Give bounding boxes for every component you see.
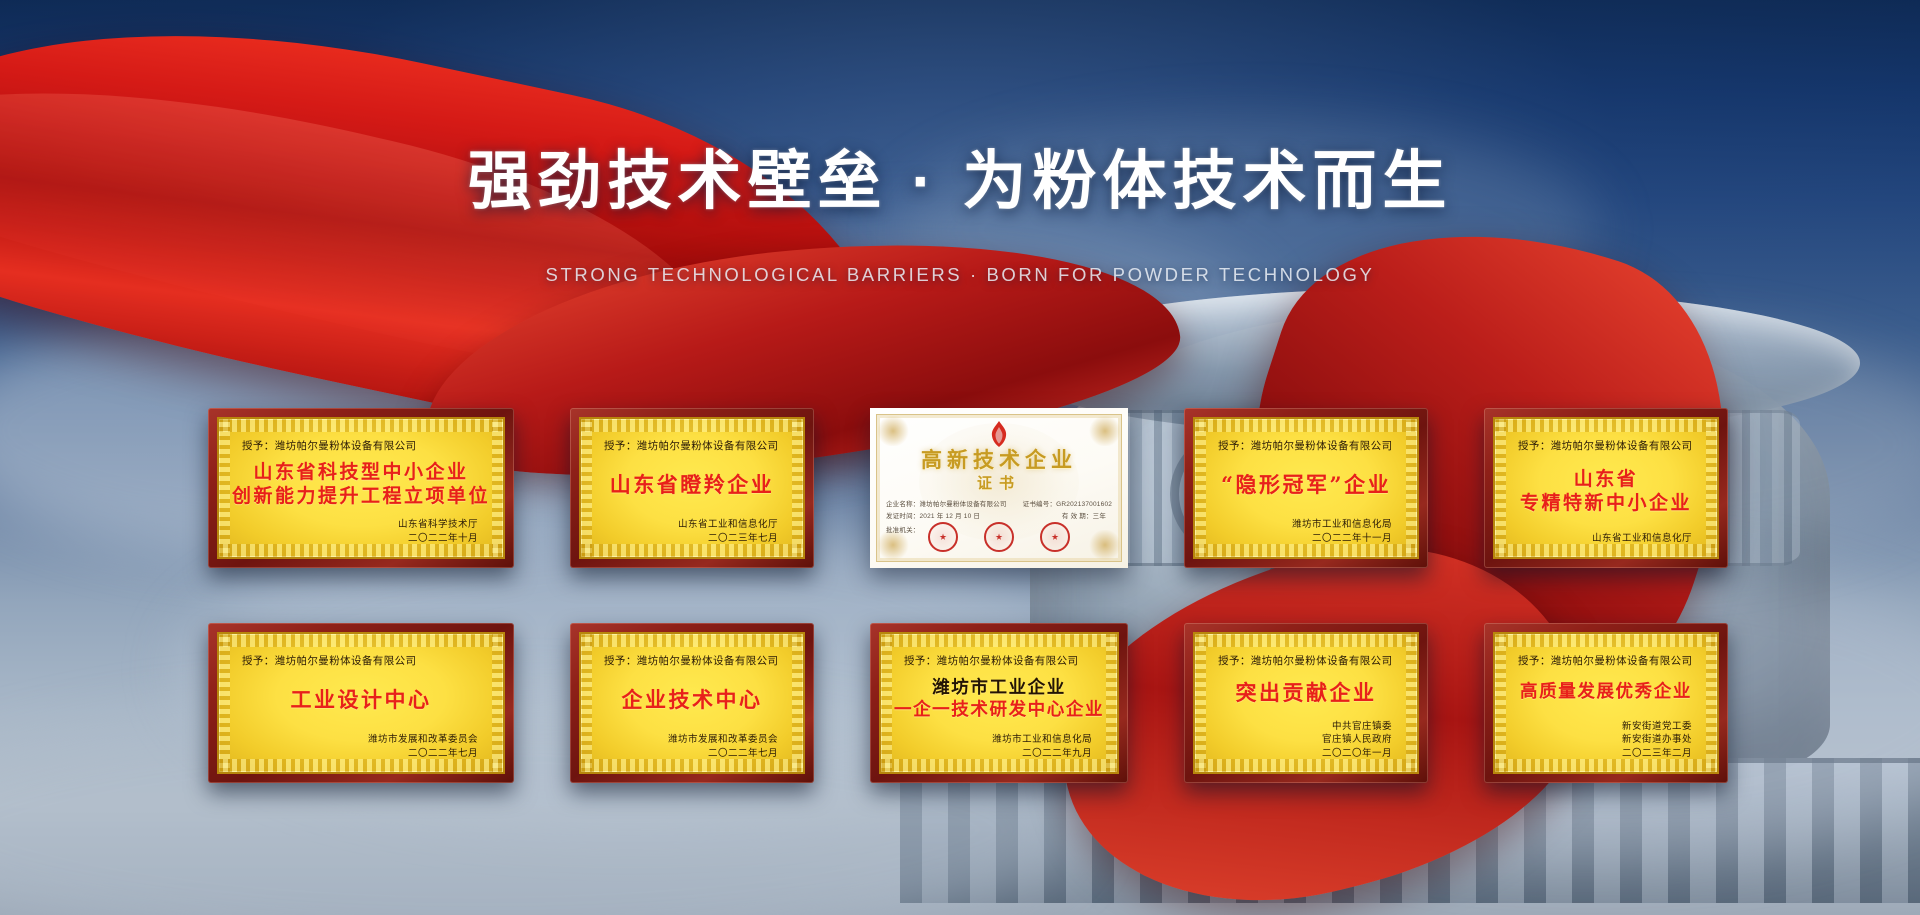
plaque-title: 山东省科技型中小企业创新能力提升工程立项单位 [232, 451, 490, 518]
plaque-issuer: 山东省科学技术厅二〇二二年十月 [232, 518, 490, 550]
plaque-issuer-line: 潍坊市发展和改革委员会 [594, 733, 778, 747]
honor-plaque-shandong-gazelle-enterprise[interactable]: 授予：潍坊帕尔曼粉体设备有限公司山东省瞪羚企业山东省工业和信息化厅二〇二三年七月 [570, 408, 814, 568]
plaque-emboss-edge [581, 419, 592, 557]
plaque-title: 突出贡献企业 [1208, 666, 1404, 720]
plaque-title: 潍坊市工业企业一企一技术研发中心企业 [894, 666, 1104, 733]
plaque-issuer-line: 山东省工业和信息化厅 [1508, 532, 1692, 546]
plaque-issuer: 潍坊市工业和信息化局二〇二二年十一月 [1208, 518, 1404, 550]
plaque-issuer-line: 二〇二〇年一月 [1208, 747, 1392, 761]
honor-cell: 授予：潍坊帕尔曼粉体设备有限公司“隐形冠军”企业潍坊市工业和信息化局二〇二二年十… [1184, 408, 1428, 568]
plaque-gold-plate: 授予：潍坊帕尔曼粉体设备有限公司“隐形冠军”企业潍坊市工业和信息化局二〇二二年十… [1193, 417, 1419, 559]
certificate-field: 证书编号：GR202137001602 [1023, 498, 1112, 508]
plaque-issuer: 潍坊市发展和改革委员会二〇二二年七月 [232, 733, 490, 765]
plaque-emboss-edge [792, 634, 803, 772]
honor-plaque-outstanding-contribution-enterprise[interactable]: 授予：潍坊帕尔曼粉体设备有限公司突出贡献企业中共官庄镇委官庄镇人民政府二〇二〇年… [1184, 623, 1428, 783]
plaque-title: 企业技术中心 [594, 666, 790, 733]
plaque-emboss-edge [219, 634, 230, 772]
plaque-title-line: 专精特新中小企业 [1520, 493, 1692, 514]
plaque-issuer: 新安街道党工委新安街道办事处二〇二三年二月 [1508, 720, 1704, 765]
cloud-wisp [640, 220, 1260, 410]
plaque-emboss-edge [1495, 634, 1506, 772]
plaque-title-line: “隐形冠军”企业 [1221, 473, 1391, 497]
plaque-gold-plate: 授予：潍坊帕尔曼粉体设备有限公司突出贡献企业中共官庄镇委官庄镇人民政府二〇二〇年… [1193, 632, 1419, 774]
plaque-emboss-edge [1406, 634, 1417, 772]
seal-row [870, 522, 1128, 552]
honor-cell: 授予：潍坊帕尔曼粉体设备有限公司高质量发展优秀企业新安街道党工委新安街道办事处二… [1484, 623, 1728, 783]
certificate-subtitle: 证书 [870, 472, 1128, 493]
plaque-emboss-edge [1106, 634, 1117, 772]
honor-cell: 授予：潍坊帕尔曼粉体设备有限公司企业技术中心潍坊市发展和改革委员会二〇二二年七月 [570, 623, 814, 783]
plaque-title: “隐形冠军”企业 [1208, 451, 1404, 518]
plaque-emboss-edge [1195, 634, 1206, 772]
honor-cell: 授予：潍坊帕尔曼粉体设备有限公司山东省科技型中小企业创新能力提升工程立项单位山东… [208, 408, 514, 568]
plaque-issuer-line: 二〇二二年十一月 [1208, 532, 1392, 546]
plaque-issuer-line: 二〇二三年二月 [1508, 747, 1692, 761]
official-seal-icon [928, 522, 958, 552]
honor-plaque-invisible-champion-enterprise[interactable]: 授予：潍坊帕尔曼粉体设备有限公司“隐形冠军”企业潍坊市工业和信息化局二〇二二年十… [1184, 408, 1428, 568]
plaque-gold-plate: 授予：潍坊帕尔曼粉体设备有限公司潍坊市工业企业一企一技术研发中心企业潍坊市工业和… [879, 632, 1119, 774]
plaque-issuer-line: 官庄镇人民政府 [1208, 733, 1392, 747]
plaque-issuer: 山东省工业和信息化厅二〇二三年七月 [594, 518, 790, 550]
plaque-issuer-line: 二〇二二年七月 [232, 747, 478, 761]
page-title: 强劲技术壁垒 · 为粉体技术而生 [0, 130, 1920, 222]
plaque-emboss-edge [881, 634, 892, 772]
plaque-emboss-edge [1406, 419, 1417, 557]
certificate-field: 有 效 期：三年 [1062, 510, 1106, 520]
plaque-issuer-line: 新安街道办事处 [1508, 733, 1692, 747]
plaque-issuer-line: 山东省工业和信息化厅 [594, 518, 778, 532]
page-subtitle: STRONG TECHNOLOGICAL BARRIERS · BORN FOR… [0, 264, 1920, 286]
corner-ornament-icon [876, 416, 910, 446]
plaque-title-line: 突出贡献企业 [1236, 681, 1377, 705]
plaque-gold-plate: 授予：潍坊帕尔曼粉体设备有限公司山东省专精特新中小企业山东省工业和信息化厅 [1493, 417, 1719, 559]
plaque-gold-plate: 授予：潍坊帕尔曼粉体设备有限公司山东省科技型中小企业创新能力提升工程立项单位山东… [217, 417, 505, 559]
plaque-title-line: 潍坊市工业企业 [932, 679, 1066, 699]
plaque-title-line: 山东省瞪羚企业 [610, 473, 775, 497]
plaque-emboss-edge [492, 419, 503, 557]
plaque-gold-plate: 授予：潍坊帕尔曼粉体设备有限公司高质量发展优秀企业新安街道党工委新安街道办事处二… [1493, 632, 1719, 774]
plaque-gold-plate: 授予：潍坊帕尔曼粉体设备有限公司企业技术中心潍坊市发展和改革委员会二〇二二年七月 [579, 632, 805, 774]
plaque-emboss-edge [581, 634, 592, 772]
plaque-title-line: 创新能力提升工程立项单位 [232, 486, 490, 507]
honor-plaque-shandong-sci-tech-sme[interactable]: 授予：潍坊帕尔曼粉体设备有限公司山东省科技型中小企业创新能力提升工程立项单位山东… [208, 408, 514, 568]
plaque-title-line: 一企一技术研发中心企业 [894, 701, 1104, 721]
plaque-emboss-edge [1495, 419, 1506, 557]
plaque-issuer-line: 二〇二二年十月 [232, 532, 478, 546]
certificate-field: 发证时间：2021 年 12 月 10 日 [886, 510, 980, 520]
plaque-emboss-edge [1706, 634, 1717, 772]
plaque-issuer-line: 二〇二三年七月 [594, 532, 778, 546]
plaque-title-line: 山东省科技型中小企业 [254, 462, 469, 483]
plaque-gold-plate: 授予：潍坊帕尔曼粉体设备有限公司工业设计中心潍坊市发展和改革委员会二〇二二年七月 [217, 632, 505, 774]
certificate-field: 企业名称：潍坊帕尔曼粉体设备有限公司 [886, 498, 1007, 508]
honor-cell: 授予：潍坊帕尔曼粉体设备有限公司突出贡献企业中共官庄镇委官庄镇人民政府二〇二〇年… [1184, 623, 1428, 783]
plaque-issuer: 山东省工业和信息化厅 [1508, 532, 1704, 550]
honor-cell: 授予：潍坊帕尔曼粉体设备有限公司山东省专精特新中小企业山东省工业和信息化厅 [1484, 408, 1728, 568]
plaque-issuer-line: 潍坊市工业和信息化局 [894, 733, 1092, 747]
certificate-title: 高新技术企业 [870, 444, 1128, 474]
banner-stage: 强劲技术壁垒 · 为粉体技术而生 STRONG TECHNOLOGICAL BA… [0, 0, 1920, 915]
plaque-title-line: 工业设计中心 [291, 688, 432, 712]
plaque-title-line: 高质量发展优秀企业 [1520, 683, 1692, 703]
plaque-issuer-line: 潍坊市发展和改革委员会 [232, 733, 478, 747]
plaque-emboss-edge [1706, 419, 1717, 557]
honor-cell: 授予：潍坊帕尔曼粉体设备有限公司潍坊市工业企业一企一技术研发中心企业潍坊市工业和… [870, 623, 1128, 783]
plaque-issuer-line: 新安街道党工委 [1508, 720, 1692, 734]
plaque-title-line: 企业技术中心 [621, 688, 762, 712]
honor-plaque-grid: 授予：潍坊帕尔曼粉体设备有限公司山东省科技型中小企业创新能力提升工程立项单位山东… [208, 408, 1728, 783]
plaque-issuer-line: 二〇二二年九月 [894, 747, 1092, 761]
certificate-high-tech-enterprise[interactable]: 高新技术企业证书企业名称：潍坊帕尔曼粉体设备有限公司证书编号：GR2021370… [870, 408, 1128, 568]
plaque-issuer: 潍坊市工业和信息化局二〇二二年九月 [894, 733, 1104, 765]
corner-ornament-icon [1088, 416, 1122, 446]
plaque-gold-plate: 授予：潍坊帕尔曼粉体设备有限公司山东省瞪羚企业山东省工业和信息化厅二〇二三年七月 [579, 417, 805, 559]
plaque-issuer-line: 中共官庄镇委 [1208, 720, 1392, 734]
plaque-title: 山东省瞪羚企业 [594, 451, 790, 518]
plaque-emboss-edge [492, 634, 503, 772]
honor-plaque-shandong-specialized-sme[interactable]: 授予：潍坊帕尔曼粉体设备有限公司山东省专精特新中小企业山东省工业和信息化厅 [1484, 408, 1728, 568]
honor-cell: 授予：潍坊帕尔曼粉体设备有限公司山东省瞪羚企业山东省工业和信息化厅二〇二三年七月 [570, 408, 814, 568]
honor-plaque-high-quality-development-excellent-enterprise[interactable]: 授予：潍坊帕尔曼粉体设备有限公司高质量发展优秀企业新安街道党工委新安街道办事处二… [1484, 623, 1728, 783]
honor-cell: 高新技术企业证书企业名称：潍坊帕尔曼粉体设备有限公司证书编号：GR2021370… [870, 408, 1128, 568]
plaque-issuer-line: 山东省科学技术厅 [232, 518, 478, 532]
official-seal-icon [984, 522, 1014, 552]
plaque-issuer: 潍坊市发展和改革委员会二〇二二年七月 [594, 733, 790, 765]
plaque-title-line: 山东省 [1574, 469, 1639, 490]
plaque-title: 工业设计中心 [232, 666, 490, 733]
official-seal-icon [1040, 522, 1070, 552]
honor-plaque-enterprise-technology-center[interactable]: 授予：潍坊帕尔曼粉体设备有限公司企业技术中心潍坊市发展和改革委员会二〇二二年七月 [570, 623, 814, 783]
plaque-title: 高质量发展优秀企业 [1508, 666, 1704, 720]
plaque-emboss-edge [1195, 419, 1206, 557]
plaque-title: 山东省专精特新中小企业 [1508, 451, 1704, 532]
plaque-issuer: 中共官庄镇委官庄镇人民政府二〇二〇年一月 [1208, 720, 1404, 765]
plaque-issuer-line: 二〇二二年七月 [594, 747, 778, 761]
plaque-emboss-edge [219, 419, 230, 557]
plaque-issuer-line: 潍坊市工业和信息化局 [1208, 518, 1392, 532]
honor-cell: 授予：潍坊帕尔曼粉体设备有限公司工业设计中心潍坊市发展和改革委员会二〇二二年七月 [208, 623, 514, 783]
honor-plaque-industrial-design-center[interactable]: 授予：潍坊帕尔曼粉体设备有限公司工业设计中心潍坊市发展和改革委员会二〇二二年七月 [208, 623, 514, 783]
honor-plaque-weifang-one-firm-one-tech-rd-center[interactable]: 授予：潍坊帕尔曼粉体设备有限公司潍坊市工业企业一企一技术研发中心企业潍坊市工业和… [870, 623, 1128, 783]
plaque-emboss-edge [792, 419, 803, 557]
